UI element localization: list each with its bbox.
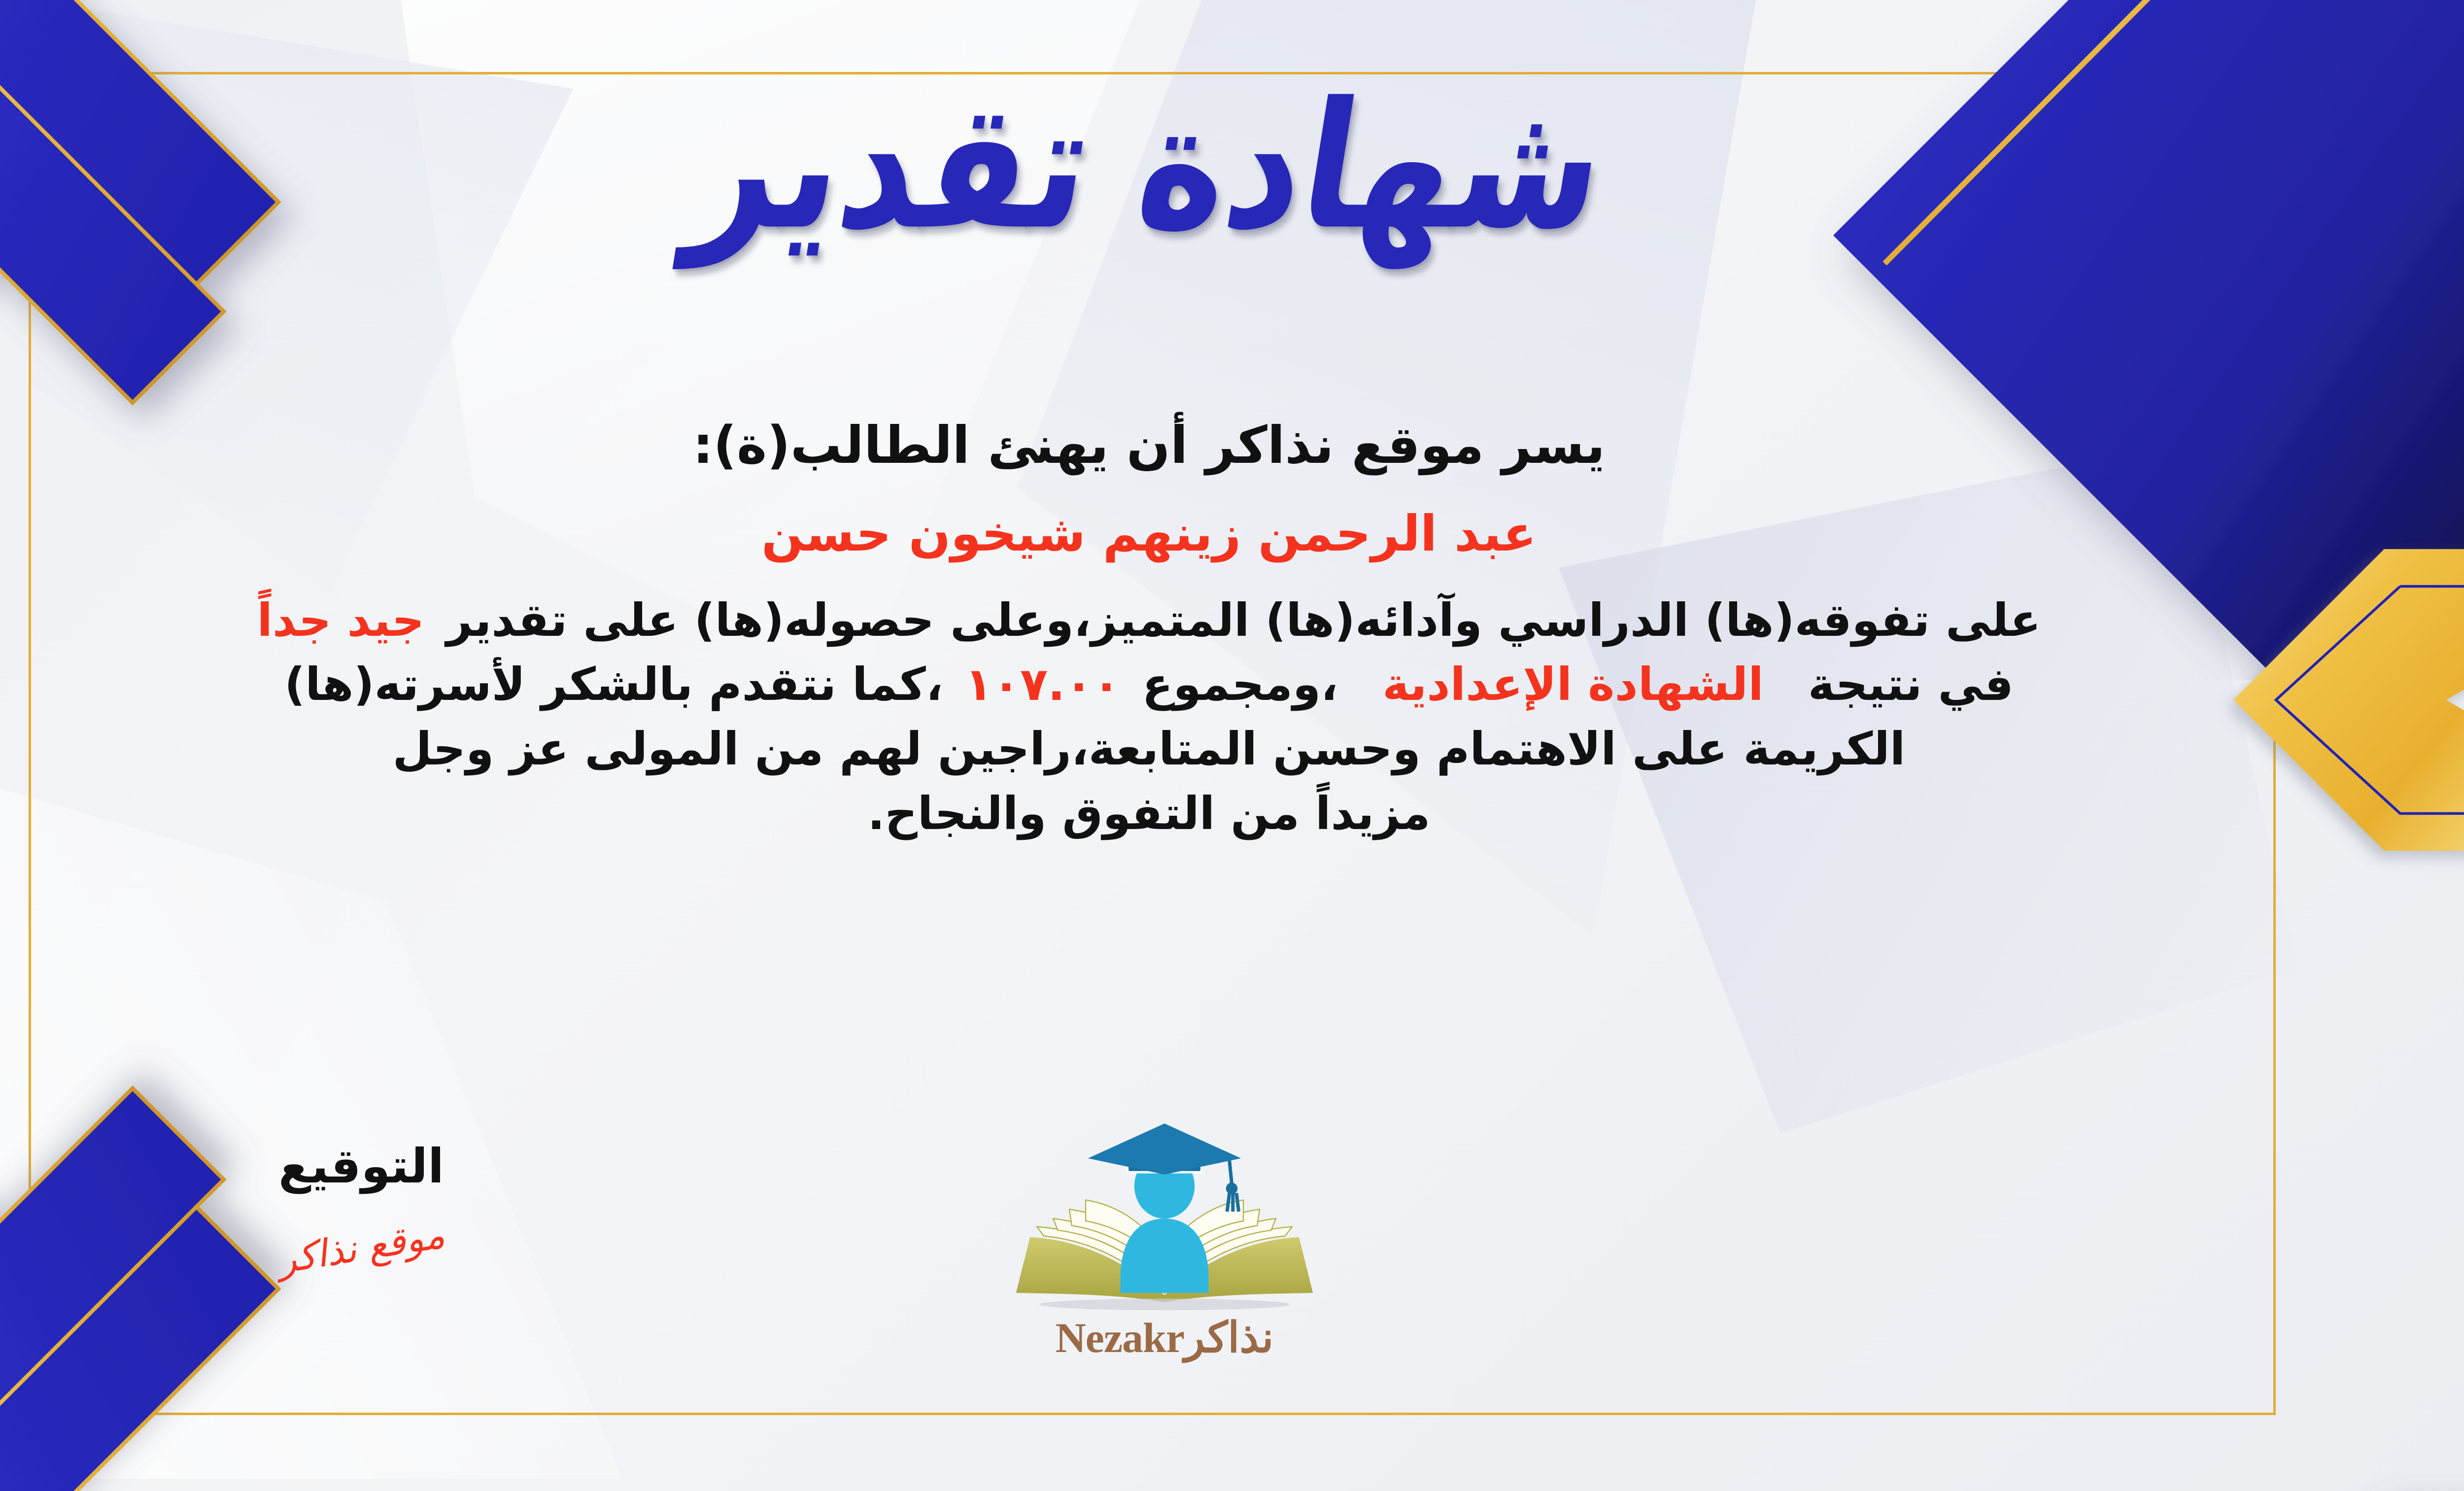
certificate-page: شهادة تقدير يسر موقع نذاكر أن يهنئ الطال…: [0, 0, 2464, 1491]
closing-line: مزيداً من التفوق والنجاح.: [0, 782, 2301, 846]
achievement-line: على تفوقه(ها) الدراسي وآدائه(ها) المتميز…: [0, 589, 2301, 653]
certificate-title-wrap: شهادة تقدير: [0, 74, 2464, 259]
signature-label: التوقيع: [223, 1139, 499, 1194]
logo-wordmark: نذاكرNezakr: [982, 1313, 1347, 1362]
grade-value: جيد جداً: [257, 594, 424, 647]
total-score: ١٠٧.٠٠: [965, 658, 1121, 711]
family-thanks-line: الكريمة على الاهتمام وحسن المتابعة،راجين…: [0, 717, 2301, 782]
intro-line: يسر موقع نذاكر أن يهنئ الطالب(ة):: [0, 409, 2301, 482]
page-title: شهادة تقدير: [678, 57, 1620, 276]
corner-ornament-bottom-right-icon: [2070, 1067, 2464, 1491]
result-line: في نتيجةالشهادة الإعدادية،ومجموع١٠٧.٠٠،ك…: [0, 653, 2301, 717]
total-label: ،ومجموع: [1142, 658, 1338, 711]
thanks-text: ،كما نتقدم بالشكر لأسرته(ها): [284, 658, 943, 711]
student-name: عبد الرحمن زينهم شيخون حسن: [0, 499, 2301, 569]
exam-name: الشهادة الإعدادية: [1382, 658, 1764, 711]
graduate-book-logo-icon: [982, 1119, 1347, 1316]
brand-logo: نذاكرNezakr: [982, 1119, 1347, 1362]
result-prefix: في نتيجة: [1808, 658, 2014, 711]
frame-border-bottom: [29, 1413, 2276, 1415]
achievement-text: على تفوقه(ها) الدراسي وآدائه(ها) المتميز…: [446, 594, 2041, 647]
signature-block: التوقيع موقع نذاكر: [223, 1139, 499, 1269]
certificate-body: يسر موقع نذاكر أن يهنئ الطالب(ة): عبد ال…: [0, 409, 2301, 846]
